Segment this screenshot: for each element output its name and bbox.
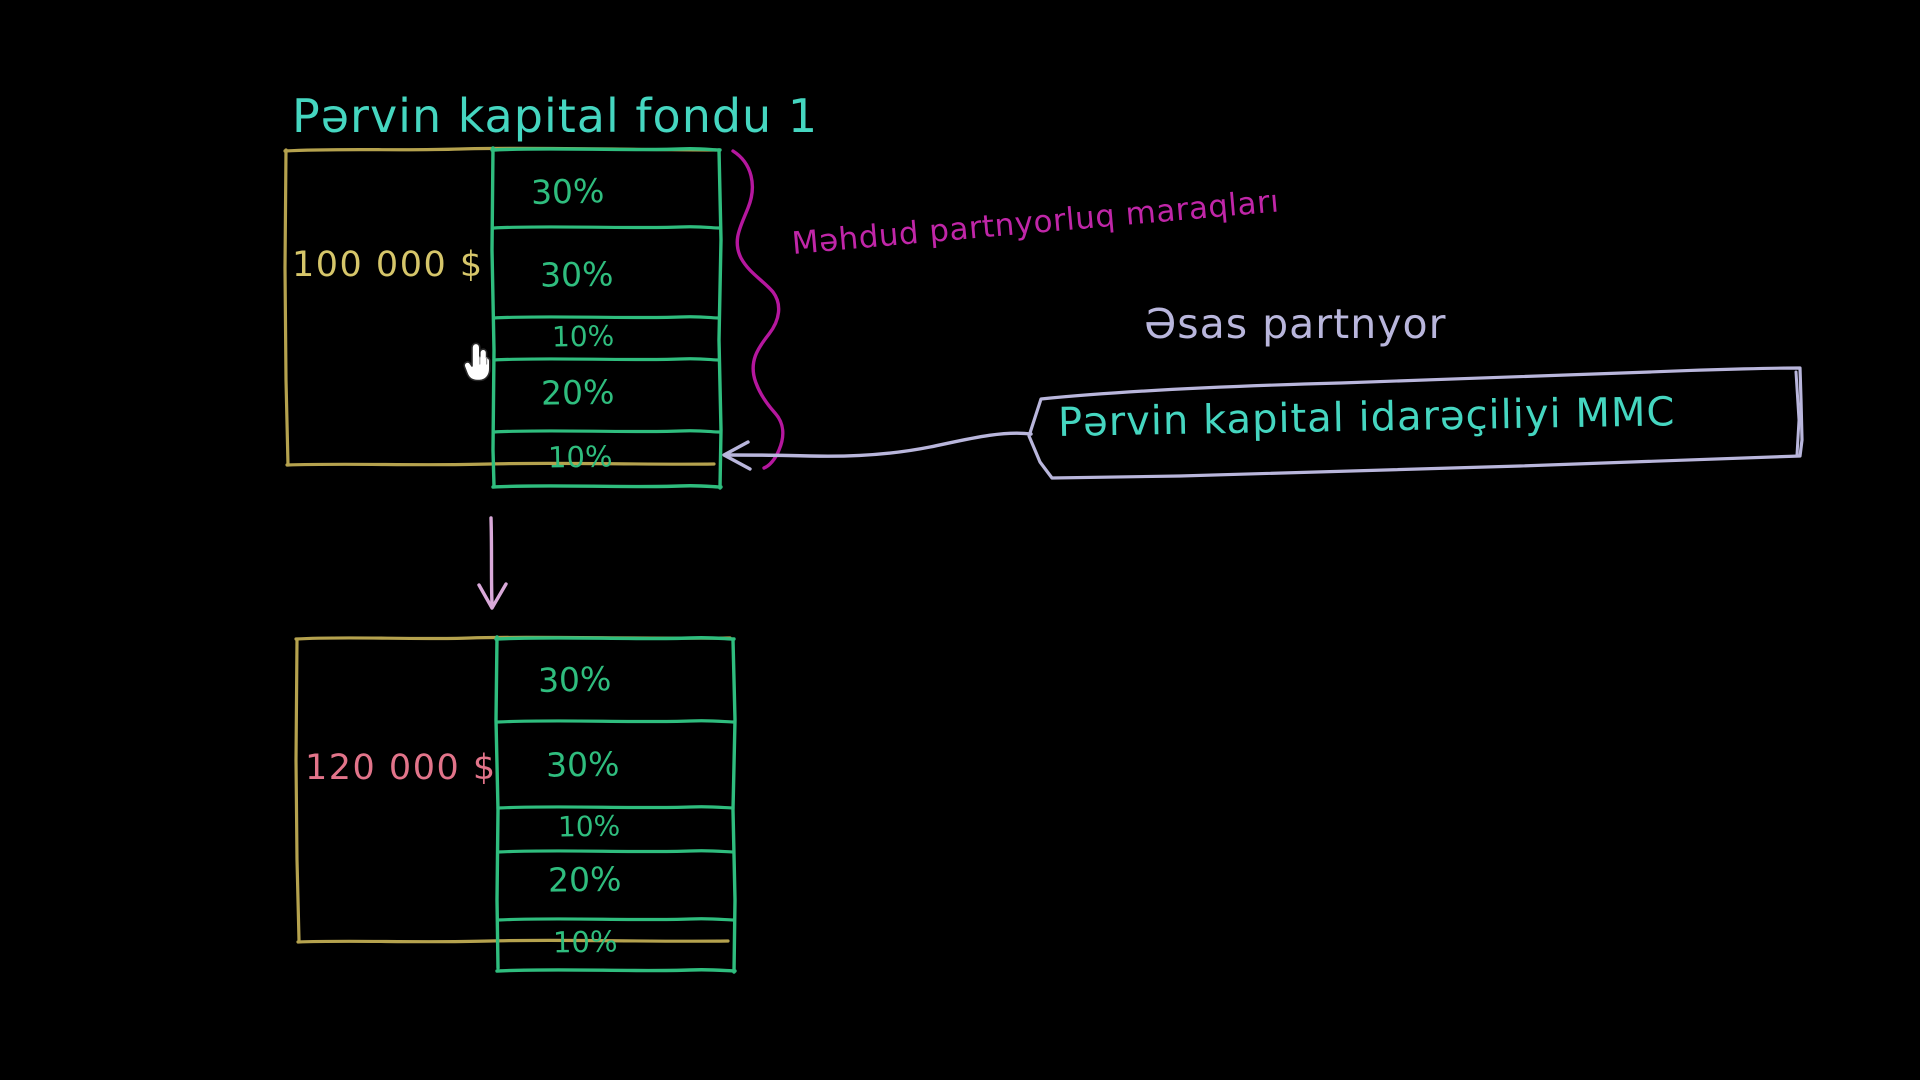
- top-fund-slice-column-bottom: [493, 486, 721, 487]
- bottom-fund-amount-cell-bottom-edge: [298, 940, 728, 942]
- top-fund-slice-column-top: [492, 149, 720, 150]
- top-fund-divider-3: [494, 359, 719, 360]
- bottom-fund-divider-4: [498, 919, 733, 920]
- manager-box-inner-tick: [1796, 372, 1799, 455]
- general-partner-arrow-line: [728, 433, 1031, 456]
- bottom-fund-slice-column-top: [496, 638, 734, 639]
- top-fund-divider-1: [494, 227, 719, 228]
- whiteboard-canvas: Pərvin kapital fondu 1 100 000 $ 30% 30%…: [0, 0, 1920, 1080]
- top-fund-divider-2: [494, 317, 719, 318]
- bottom-fund-slice-column-left: [496, 637, 498, 968]
- bottom-fund-divider-3: [498, 851, 733, 852]
- bottom-fund-amount-cell-border: [296, 640, 299, 940]
- top-fund-amount-cell-border: [285, 150, 288, 465]
- top-fund-divider-4: [494, 431, 719, 432]
- bottom-fund-divider-1: [498, 721, 733, 722]
- growth-arrow-shaft: [491, 518, 492, 604]
- bottom-fund-slice-column-right: [733, 640, 735, 972]
- drawing-layer: [0, 0, 1920, 1080]
- bottom-fund-divider-2: [498, 807, 733, 808]
- top-fund-amount-cell-bottom-edge: [287, 463, 714, 465]
- bottom-fund-slice-column-bottom: [497, 970, 735, 971]
- limited-partners-brace: [733, 151, 783, 468]
- manager-box-outline: [1029, 368, 1802, 478]
